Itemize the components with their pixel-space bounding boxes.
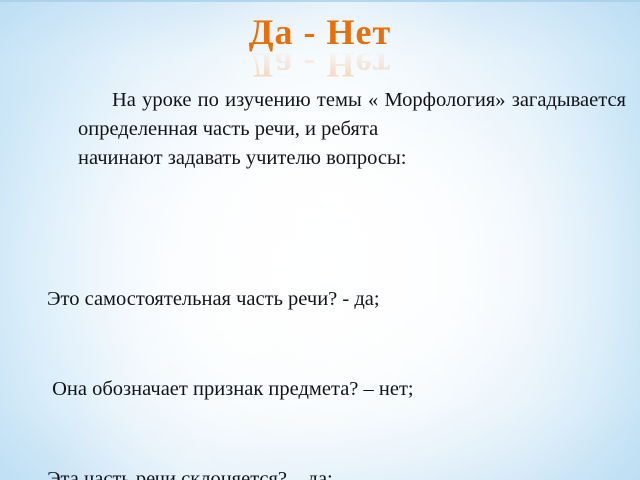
qa-line: Эта часть речи склоняется? – да;: [47, 464, 627, 480]
question-answer-list: Это самостоятельная часть речи? - да; Он…: [47, 224, 627, 480]
qa-line-text: Она обозначает признак предмета? – нет;: [47, 378, 414, 400]
intro-paragraph-line-3: начинают задавать учителю вопросы:: [78, 144, 626, 173]
qa-line-text: Эта часть речи склоняется? – да;: [47, 468, 333, 480]
intro-paragraph: На уроке по изучению темы « Морфология» …: [78, 86, 626, 173]
slide: Да - Нет Да - Нет На уроке по изучению т…: [0, 0, 640, 480]
qa-line-text: Это самостоятельная часть речи? - да;: [47, 288, 380, 310]
qa-line: Это самостоятельная часть речи? - да;: [47, 284, 627, 314]
slide-title: Да - Нет: [0, 14, 640, 50]
slide-title-reflection: Да - Нет: [0, 47, 640, 83]
qa-line: Она обозначает признак предмета? – нет;: [47, 374, 627, 404]
intro-paragraph-line-1: На уроке по изучению темы « Морфология»: [112, 89, 505, 111]
slide-title-text: Да - Нет: [249, 14, 391, 50]
slide-title-reflection-text: Да - Нет: [249, 47, 391, 83]
slide-content: Да - Нет Да - Нет На уроке по изучению т…: [0, 0, 640, 480]
